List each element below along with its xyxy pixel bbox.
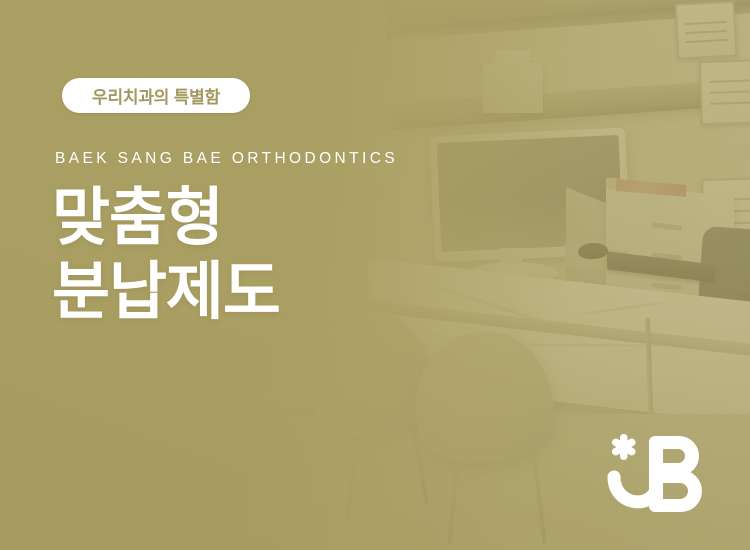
clinic-logo[interactable] xyxy=(604,428,712,520)
asterisk-icon xyxy=(611,434,637,460)
headline: 맞춤형 분납제도 xyxy=(52,181,280,329)
feature-badge-label: 우리치과의 특별함 xyxy=(92,83,220,108)
promo-banner: 우리치과의 특별함 BAEK SANG BAE ORTHODONTICS 맞춤형… xyxy=(0,0,750,550)
headline-line-2: 분납제도 xyxy=(52,255,280,329)
letter-b-icon xyxy=(649,436,702,512)
feature-badge[interactable]: 우리치과의 특별함 xyxy=(62,78,250,113)
headline-line-1: 맞춤형 xyxy=(52,181,280,255)
banner-content: 우리치과의 특별함 BAEK SANG BAE ORTHODONTICS 맞춤형… xyxy=(0,0,750,550)
clinic-name-eyebrow: BAEK SANG BAE ORTHODONTICS xyxy=(55,150,398,168)
